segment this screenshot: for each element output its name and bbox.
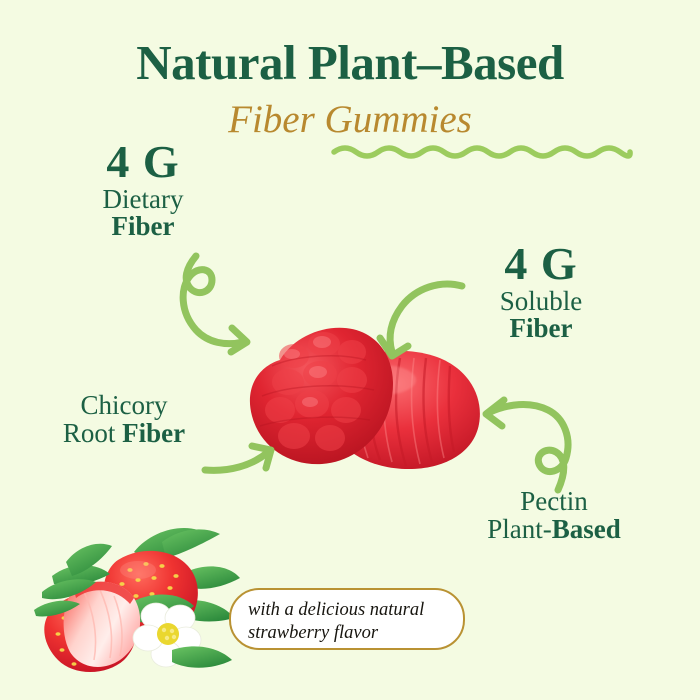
pectin-arrow-icon	[486, 400, 568, 490]
strawberries-image	[22, 518, 242, 688]
gummies-image	[232, 300, 494, 485]
callout-chicory-line2: Root Fiber	[0, 420, 248, 448]
callout-soluble-amount: 4 G	[396, 241, 686, 288]
subtitle-container: Fiber Gummies	[0, 100, 700, 141]
flavor-caption-line1: with a delicious natural	[248, 599, 460, 622]
callout-pectin-line2-bold: Based	[552, 514, 621, 544]
callout-chicory-root-fiber: Chicory Root Fiber	[0, 392, 248, 447]
callout-dietary-line2: Fiber	[0, 213, 286, 241]
callout-chicory-line2-bold: Fiber	[122, 418, 185, 448]
callout-dietary-line1: Dietary	[0, 186, 286, 214]
wavy-underline-icon	[331, 143, 633, 159]
callout-dietary-fiber: 4 G Dietary Fiber	[0, 139, 286, 241]
page-subtitle: Fiber Gummies	[228, 100, 472, 141]
callout-dietary-line2-text: Fiber	[112, 211, 175, 241]
flavor-caption-line2: strawberry flavor	[248, 622, 460, 645]
flower-center	[157, 623, 179, 645]
flavor-caption-box: with a delicious natural strawberry flav…	[229, 588, 465, 650]
callout-pectin-plant-based: Pectin Plant-Based	[420, 488, 688, 543]
callout-pectin-line1: Pectin	[420, 488, 688, 516]
infographic-canvas: Natural Plant–Based Fiber Gummies 4 G Di…	[0, 0, 700, 700]
callout-soluble-line2-text: Fiber	[510, 313, 573, 343]
callout-pectin-line2: Plant-Based	[420, 516, 688, 544]
leaf-bottom	[172, 646, 232, 667]
callout-chicory-line2-normal: Root	[63, 418, 122, 448]
flavor-caption-text: with a delicious natural strawberry flav…	[248, 599, 460, 644]
callout-pectin-line2-normal: Plant-	[487, 514, 552, 544]
page-title: Natural Plant–Based	[0, 38, 700, 87]
callout-dietary-amount: 4 G	[0, 139, 286, 186]
callout-chicory-line1: Chicory	[0, 392, 248, 420]
